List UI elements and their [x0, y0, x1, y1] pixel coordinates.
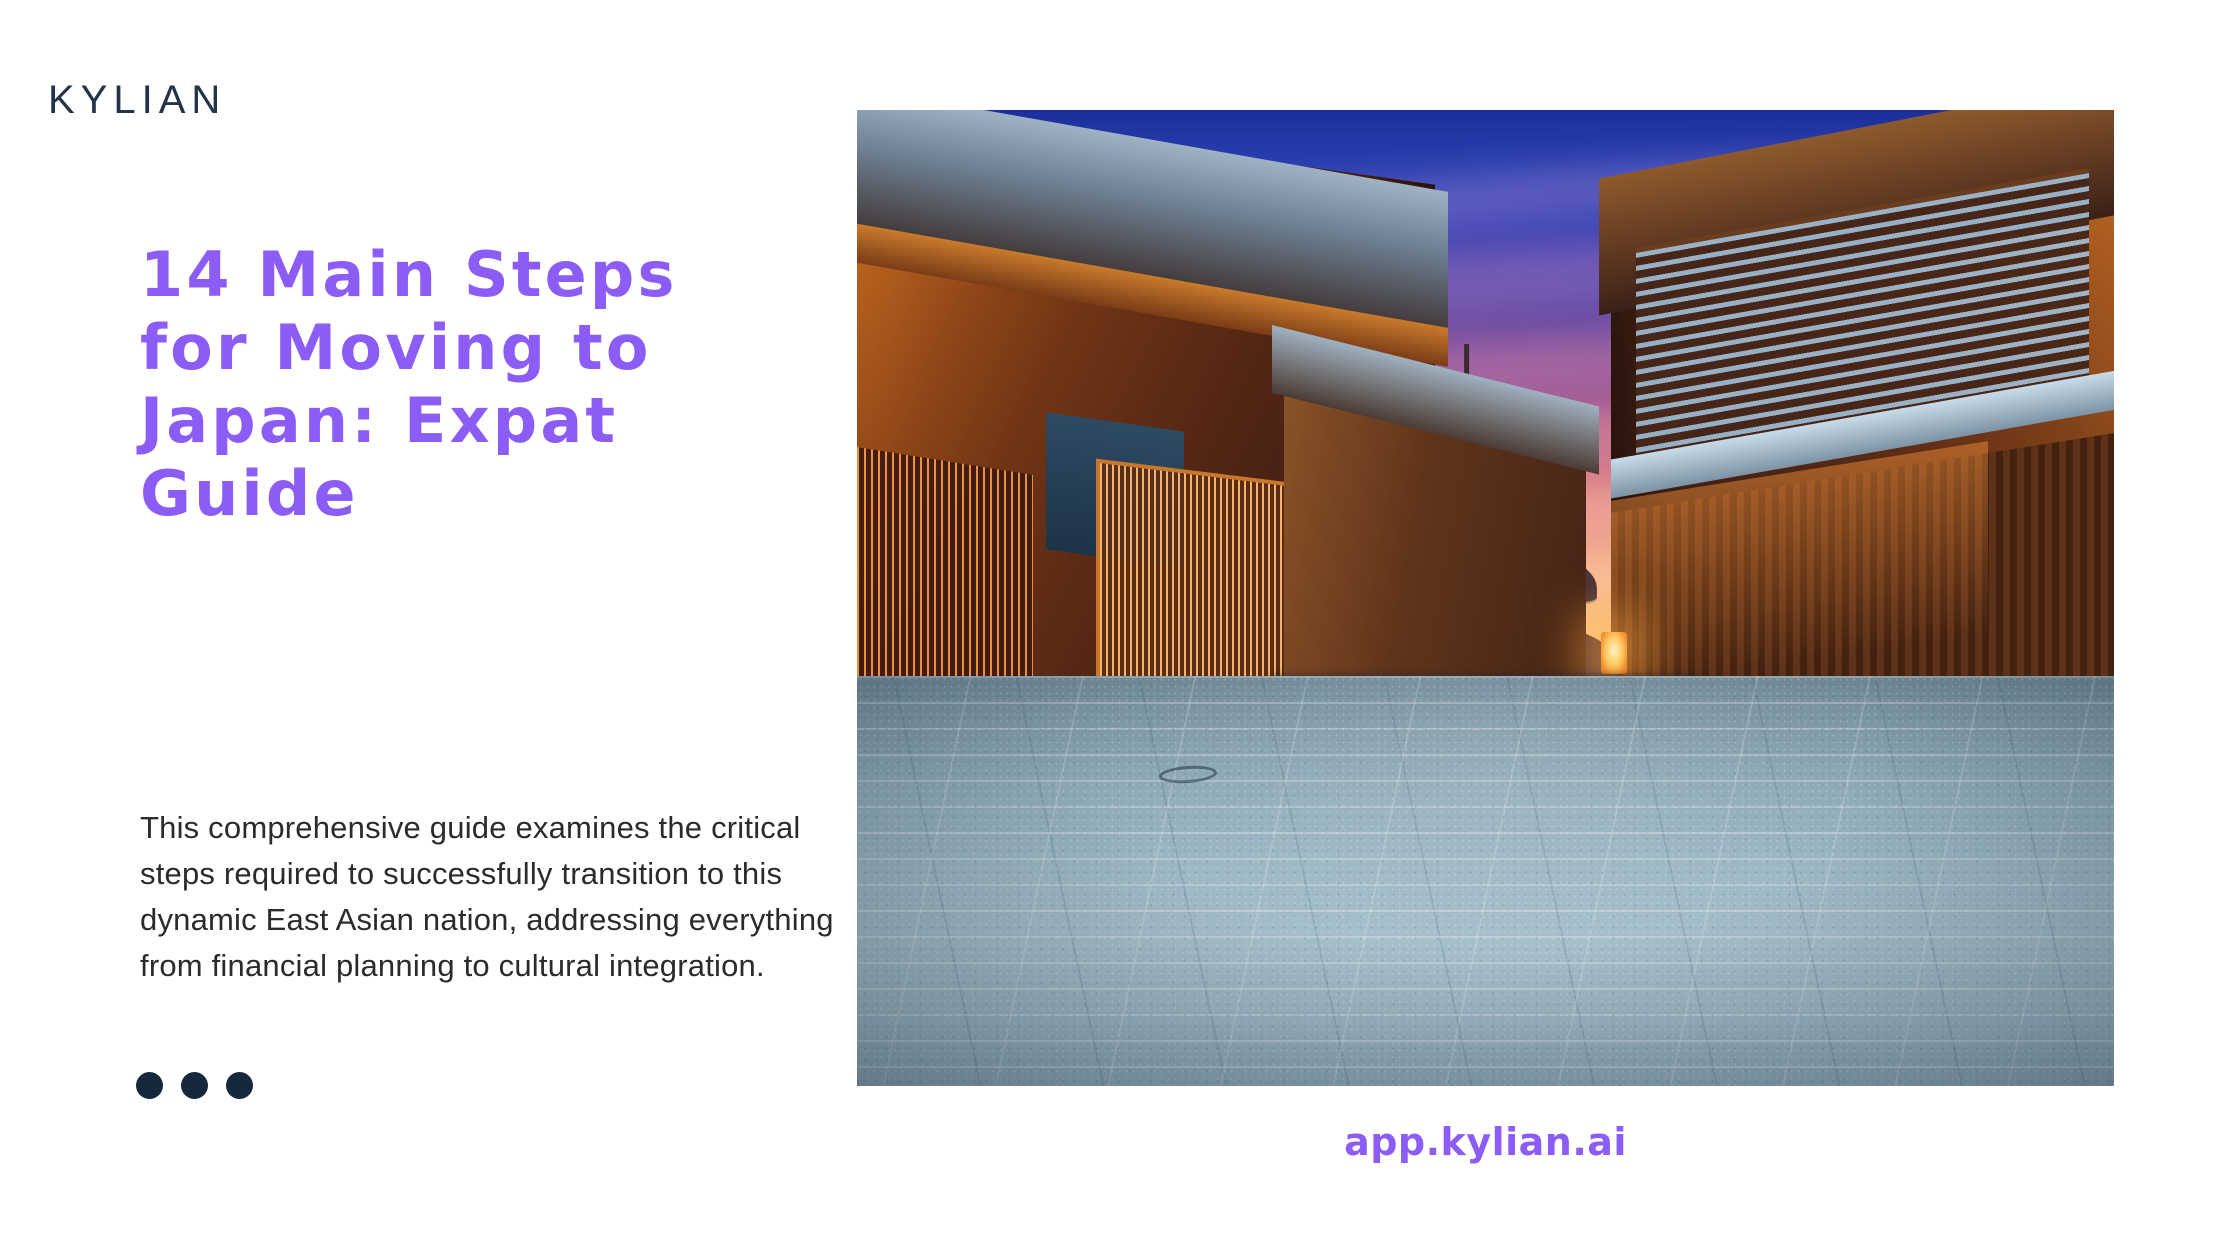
street-vignette	[857, 676, 2114, 1086]
slide-root: KYLIAN 14 Main Steps for Moving to Japan…	[0, 0, 2240, 1260]
left-content-column: 14 Main Steps for Moving to Japan: Expat…	[0, 0, 857, 1260]
body-paragraph: This comprehensive guide examines the cr…	[140, 805, 840, 989]
dot-3	[226, 1072, 253, 1099]
dot-2	[181, 1072, 208, 1099]
dot-1	[136, 1072, 163, 1099]
street-lamp-light	[1601, 632, 1627, 674]
site-url[interactable]: app.kylian.ai	[857, 1120, 2114, 1164]
hero-image	[857, 110, 2114, 1086]
stone-street	[857, 676, 2114, 1086]
kyoto-street-photo	[857, 110, 2114, 1086]
page-title: 14 Main Steps for Moving to Japan: Expat…	[140, 238, 700, 531]
decorative-dots	[136, 1072, 253, 1099]
